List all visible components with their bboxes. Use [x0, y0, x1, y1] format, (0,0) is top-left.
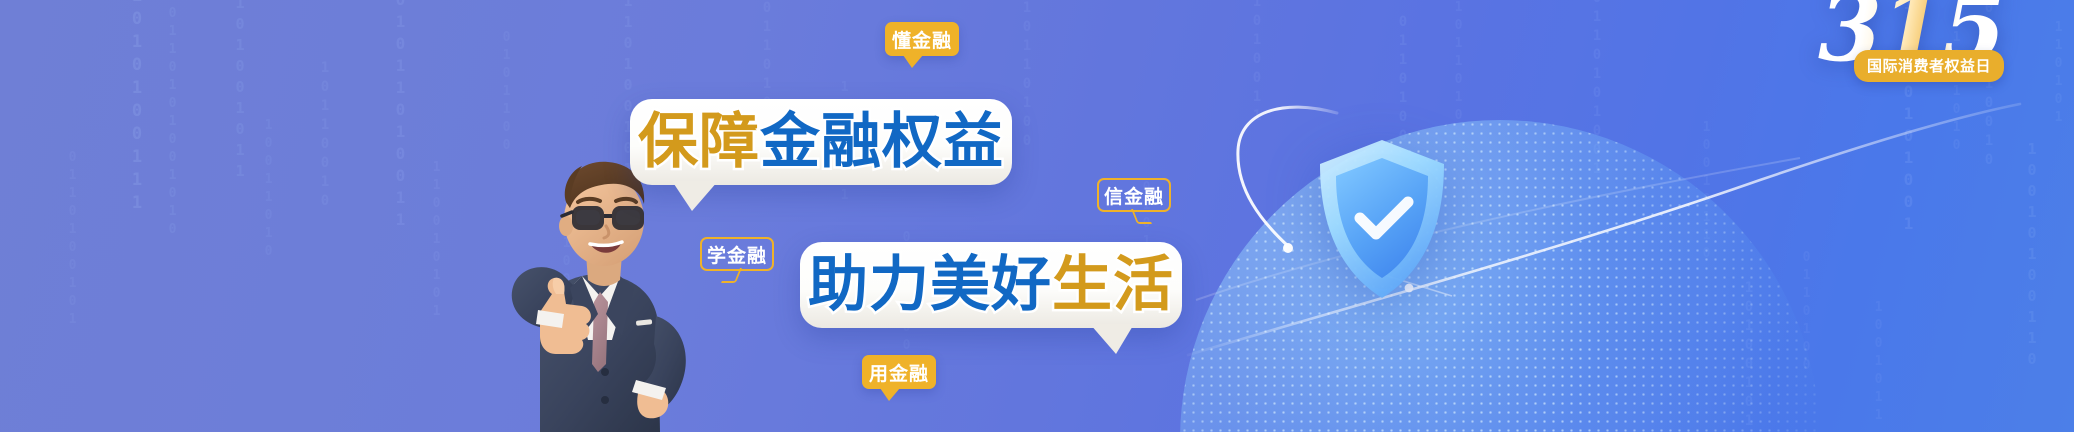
globe-graphic [1180, 120, 1880, 432]
binary-column: 1001011 [1872, 300, 1885, 426]
binary-column: 1010100111 [128, 0, 145, 216]
logo-315-subtitle: 国际消费者权益日 [1854, 50, 2004, 82]
binary-column: 1011010 [1452, 0, 1465, 126]
binary-column: 101001011 [232, 0, 247, 183]
shield-check-icon [1312, 136, 1452, 304]
orbit-decoration [0, 0, 2074, 432]
binary-column: 110101 [2052, 20, 2065, 128]
binary-column: 0110101001010 [166, 6, 179, 240]
binary-background: 1010100111011010100101010100101110011010… [0, 0, 2074, 432]
binary-column: 10010110 [1700, 120, 1713, 264]
headline-2-blue: 助力美好 [808, 255, 1052, 315]
binary-column: 10110010 [318, 60, 332, 212]
orbit-ring-secondary [1196, 158, 1800, 300]
binary-column: 0110100 [1800, 250, 1813, 376]
tag-dong-label: 懂金融 [892, 26, 952, 53]
binary-column: 011010 [760, 0, 774, 114]
tag-xin-label: 信金融 [1104, 182, 1164, 209]
binary-column: 0110101001 [1590, 0, 1604, 180]
tag-yong-jinrong[interactable]: 用金融 [862, 355, 936, 389]
headline-bubble-2: 助力美好生活 [800, 242, 1182, 328]
globe-highlight [1180, 120, 1820, 432]
globe-sphere [1180, 120, 1820, 432]
headline-1-blue: 金融权益 [760, 112, 1004, 172]
headline-2-gold: 生活 [1052, 255, 1174, 315]
binary-column: 110010101 [430, 160, 443, 322]
headline-bubble-1: 保障金融权益 [630, 99, 1012, 185]
comet-arc-endpoint [1283, 243, 1293, 253]
globe-dot-matrix [1180, 120, 1820, 432]
binary-column: 10010100110 [2024, 140, 2039, 371]
tag-xue-jinrong[interactable]: 学金融 [700, 237, 774, 271]
binary-column: 0110100101 [66, 150, 79, 330]
binary-column: 10011010 [262, 118, 275, 262]
promo-banner: 1010100111011010100101010100101110011010… [0, 0, 2074, 432]
headline-1-gold: 保障 [638, 112, 760, 172]
binary-column: 10110100 [1020, 0, 1034, 152]
binary-column: 101001011 [1742, 280, 1756, 432]
tag-xin-jinrong[interactable]: 信金融 [1097, 178, 1171, 212]
logo-315: 315 国际消费者权益日 [1796, 0, 2026, 108]
binary-column: 01011010011 [392, 0, 408, 232]
binary-column: 1010011 [1250, 0, 1264, 127]
tag-yong-label: 用金融 [869, 359, 929, 386]
tag-xue-label: 学金融 [707, 241, 767, 268]
tag-dong-jinrong[interactable]: 懂金融 [885, 22, 959, 56]
